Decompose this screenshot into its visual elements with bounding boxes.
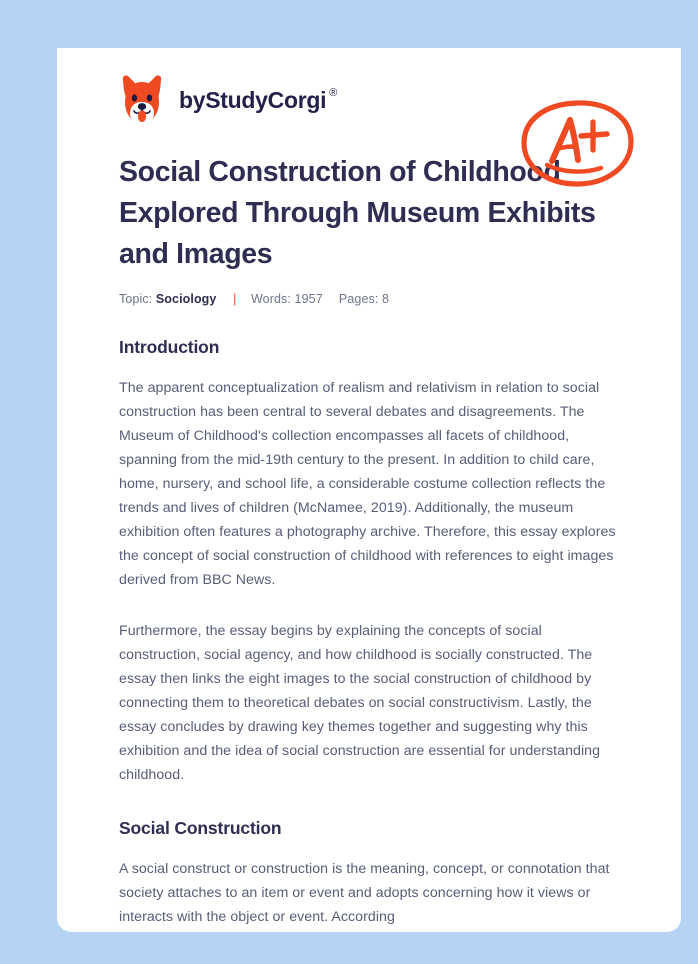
corgi-head-icon	[119, 74, 165, 126]
paragraph: The apparent conceptualization of realis…	[119, 376, 619, 592]
studycorgi-brand[interactable]: by StudyCorgi®	[119, 74, 337, 126]
paragraph: A social construct or construction is th…	[119, 857, 619, 929]
section-heading-social-construction: Social Construction	[119, 818, 619, 839]
pages-value: 8	[382, 292, 389, 306]
document-body: Social Construction of Childhood Explore…	[57, 152, 681, 929]
registered-trademark-icon: ®	[329, 88, 337, 99]
words-label: Words:	[251, 292, 291, 306]
document-meta: Topic: Sociology | Words: 1957 Pages: 8	[119, 292, 619, 306]
topic-value[interactable]: Sociology	[156, 292, 217, 306]
topic-label: Topic:	[119, 292, 152, 306]
a-plus-grade-icon	[521, 98, 635, 188]
paragraph: Furthermore, the essay begins by explain…	[119, 619, 619, 787]
section-heading-introduction: Introduction	[119, 337, 619, 358]
brand-prefix: by	[179, 89, 205, 112]
brand-wordmark: by StudyCorgi®	[179, 89, 337, 112]
meta-separator: |	[233, 292, 236, 306]
document-header: by StudyCorgi®	[57, 48, 681, 152]
document-page: by StudyCorgi® Social Construction of Ch…	[57, 48, 681, 932]
words-value: 1957	[295, 292, 323, 306]
pages-label: Pages:	[339, 292, 379, 306]
brand-name: StudyCorgi	[205, 89, 326, 112]
